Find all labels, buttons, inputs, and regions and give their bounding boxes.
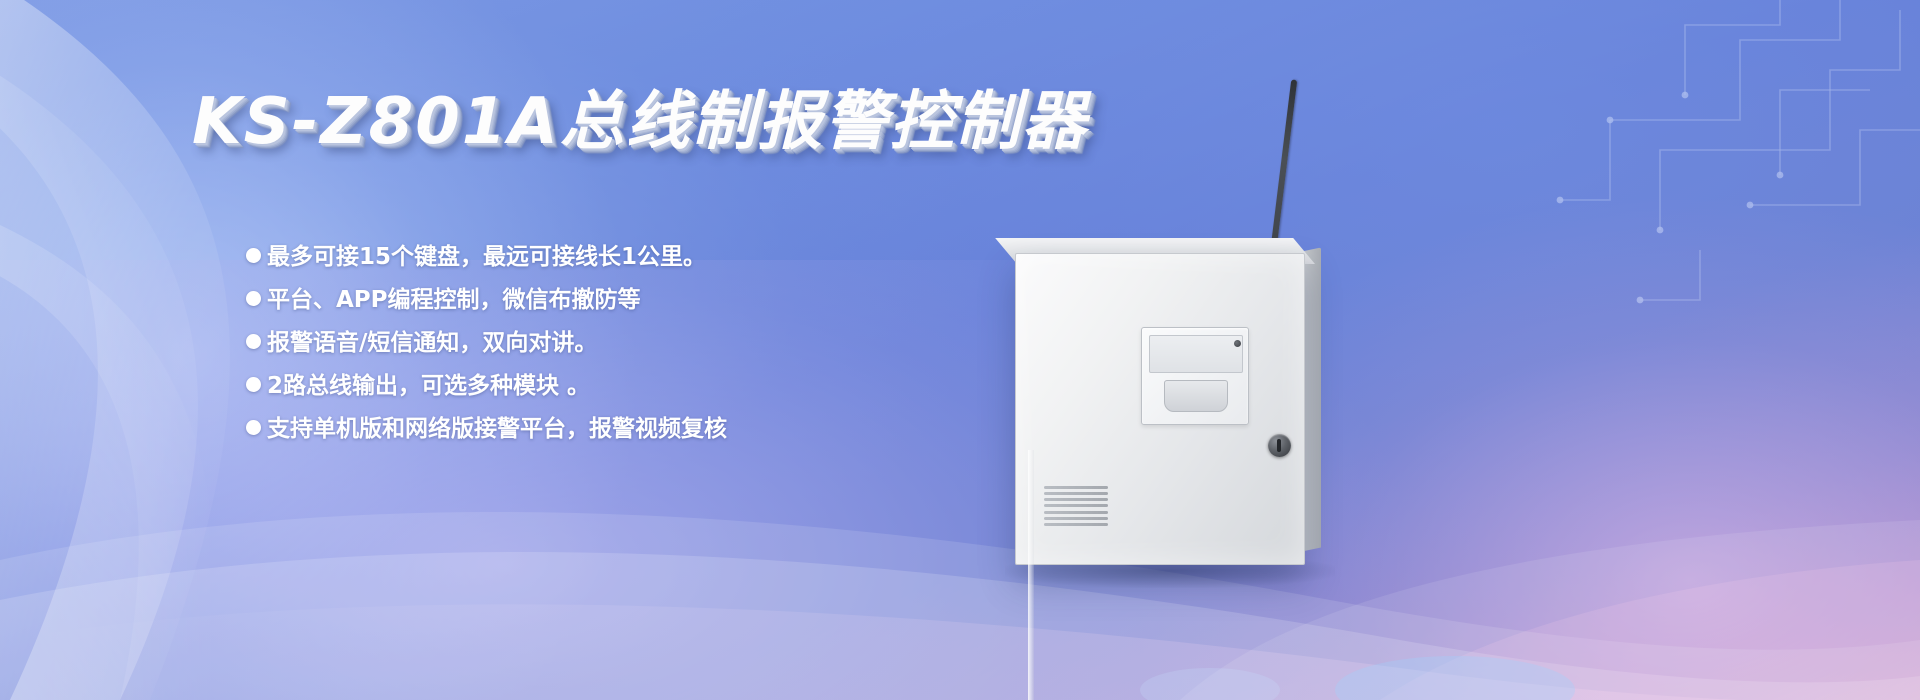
list-item: 支持单机版和网络版接警平台，报警视频复核 [246,408,1076,451]
ventilation-grille [1044,486,1108,526]
keypad-slot [1164,380,1228,412]
feature-text: 最多可接15个键盘，最远可接线长1公里。 [267,236,706,279]
feature-list: 最多可接15个键盘，最远可接线长1公里。 平台、APP编程控制，微信布撤防等 报… [246,236,1076,451]
list-item: 最多可接15个键盘，最远可接线长1公里。 [246,236,1076,279]
feature-text: 支持单机版和网络版接警平台，报警视频复核 [267,408,727,451]
list-item: 2路总线输出，可选多种模块 。 [246,365,1076,408]
list-item: 报警语音/短信通知，双向对讲。 [246,322,1076,365]
display-screen [1149,335,1243,373]
product-banner: KS-Z801A总线制报警控制器 最多可接15个键盘，最远可接线长1公里。 平台… [0,0,1920,700]
status-led-icon [1234,340,1241,347]
bullet-dot-icon [246,420,261,435]
product-image-alarm-control-panel [1005,60,1425,620]
door-edge-highlight [1028,450,1034,700]
bullet-dot-icon [246,248,261,263]
bullet-dot-icon [246,291,261,306]
feature-text: 平台、APP编程控制，微信布撤防等 [267,279,641,322]
bullet-dot-icon [246,377,261,392]
feature-text: 报警语音/短信通知，双向对讲。 [267,322,597,365]
page-title: KS-Z801A总线制报警控制器 [192,70,1088,162]
bullet-dot-icon [246,334,261,349]
feature-text: 2路总线输出，可选多种模块 。 [267,365,590,408]
enclosure-front-door [1015,253,1305,565]
lock-icon [1268,434,1291,457]
display-window [1141,327,1249,425]
list-item: 平台、APP编程控制，微信布撤防等 [246,279,1076,322]
